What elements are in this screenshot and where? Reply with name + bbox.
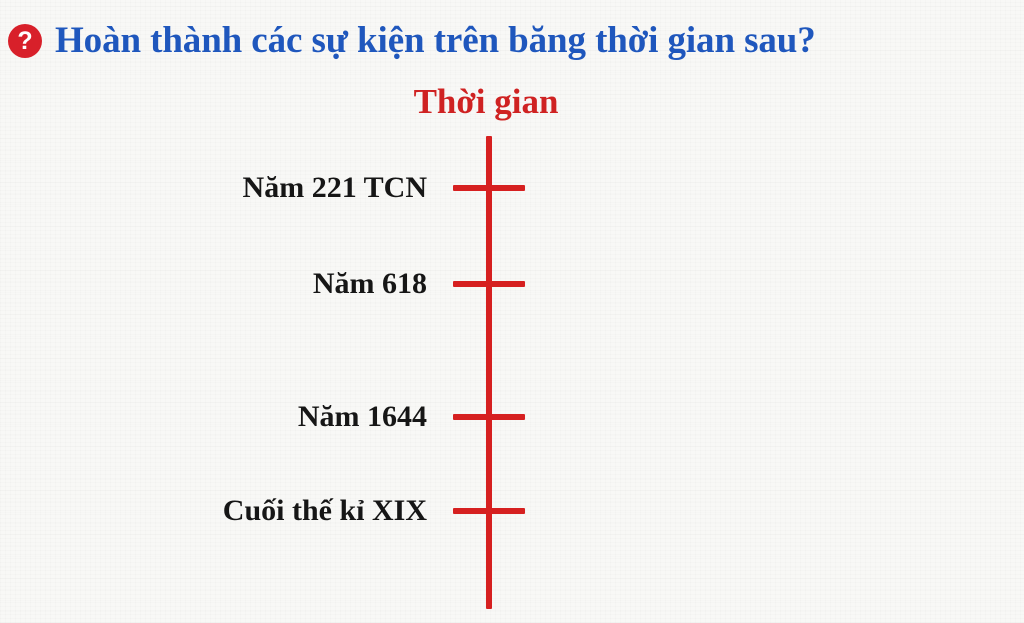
timeline-tick-mark xyxy=(453,414,525,420)
timeline-diagram: Thời gian Năm 221 TCN Năm 618 Năm 1644 C… xyxy=(0,0,1024,623)
timeline-tick-mark xyxy=(453,508,525,514)
timeline-event-label: Cuối thế kỉ XIX xyxy=(223,494,427,528)
timeline-event-label: Năm 1644 xyxy=(298,400,427,434)
timeline-event-label: Năm 221 TCN xyxy=(243,171,427,205)
timeline-tick-mark xyxy=(453,185,525,191)
timeline-tick-mark xyxy=(453,281,525,287)
timeline-event-label: Năm 618 xyxy=(313,267,427,301)
timeline-axis-line xyxy=(486,136,492,609)
slide-canvas: ? Hoàn thành các sự kiện trên băng thời … xyxy=(0,0,1024,623)
timeline-axis-title: Thời gian xyxy=(286,83,686,122)
